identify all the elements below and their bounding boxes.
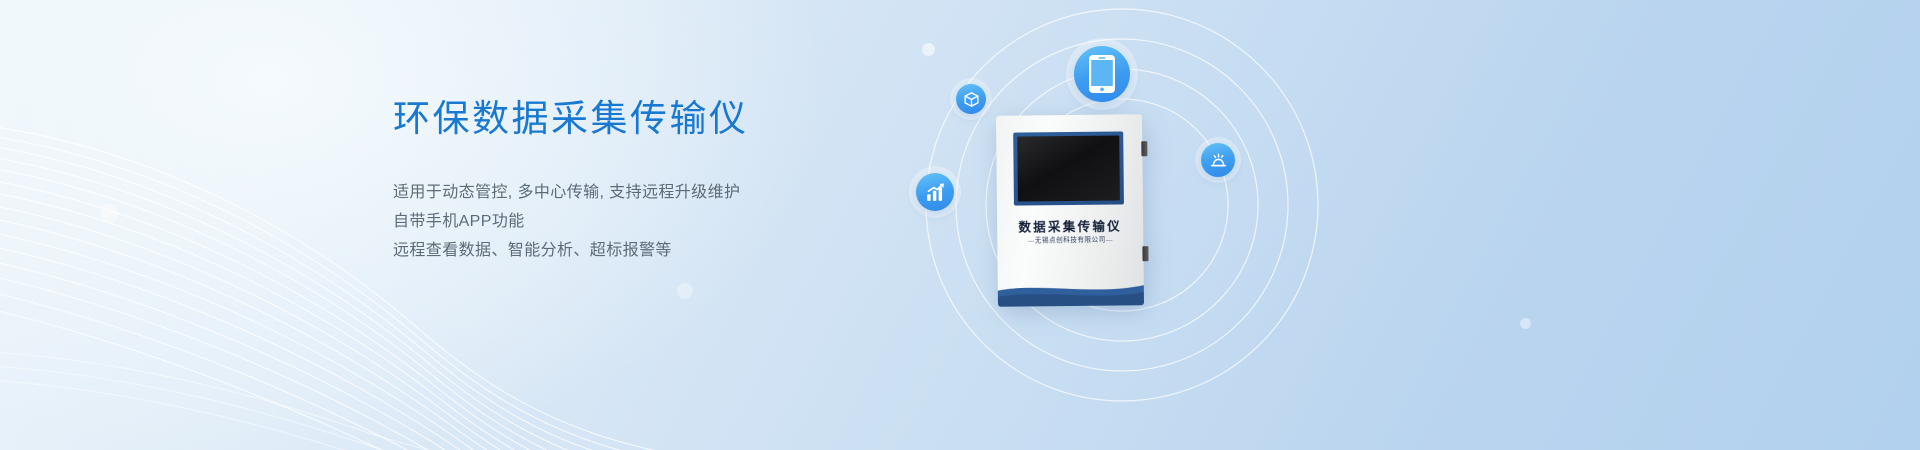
device-panel-subtitle: —无锡点创科技有限公司— — [997, 233, 1143, 245]
bar-chart-trend-icon — [916, 173, 954, 211]
smartphone-icon — [1074, 46, 1130, 102]
decor-bubble — [1520, 318, 1531, 329]
device-side-knob — [1142, 246, 1148, 261]
page-title: 环保数据采集传输仪 — [393, 96, 913, 142]
decor-bubble — [677, 283, 693, 299]
device-side-knob — [1141, 141, 1147, 156]
hero-text-block: 环保数据采集传输仪 适用于动态管控, 多中心传输, 支持远程升级维护 自带手机A… — [393, 96, 913, 265]
device-base-accent — [998, 279, 1144, 307]
alarm-siren-icon — [1201, 143, 1235, 177]
feature-list: 适用于动态管控, 多中心传输, 支持远程升级维护 自带手机APP功能 远程查看数… — [393, 178, 913, 265]
feature-line: 适用于动态管控, 多中心传输, 支持远程升级维护 — [393, 178, 913, 207]
device-screen-bezel — [1013, 131, 1124, 205]
device-display — [1017, 135, 1120, 201]
feature-line: 远程查看数据、智能分析、超标报警等 — [393, 236, 913, 265]
package-cube-icon — [956, 84, 986, 114]
data-logger-device: 数据采集传输仪 —无锡点创科技有限公司— — [996, 114, 1144, 307]
feature-line: 自带手机APP功能 — [393, 207, 913, 236]
decor-bubble — [100, 204, 118, 222]
product-hero-banner: 环保数据采集传输仪 适用于动态管控, 多中心传输, 支持远程升级维护 自带手机A… — [0, 0, 1920, 450]
product-visual: 数据采集传输仪 —无锡点创科技有限公司— — [860, 0, 1420, 450]
